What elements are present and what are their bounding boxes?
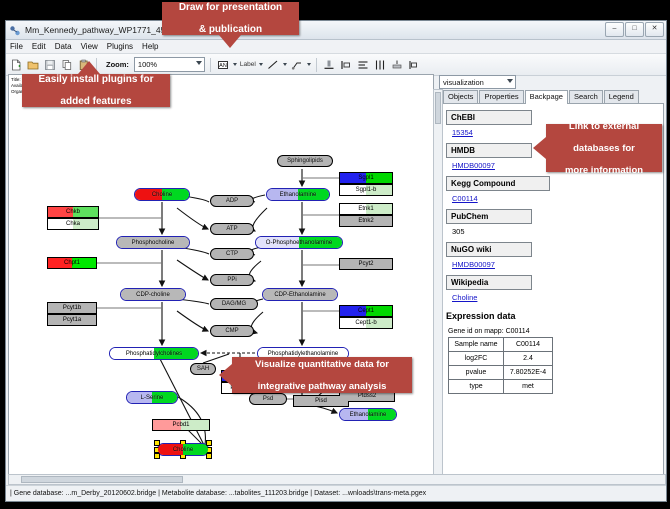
expression-data-title: Expression data	[446, 311, 663, 321]
line-icon[interactable]	[266, 58, 280, 72]
pathway-canvas[interactable]: Title: Availab Organis	[8, 74, 434, 484]
scrollbar-thumb[interactable]	[21, 476, 183, 483]
annotation-visualize-pointer	[219, 364, 232, 386]
metabolite-label: Choline	[173, 447, 193, 453]
window-titlebar: Mm_Kennedy_pathway_WP1771_45176.gpml – □…	[6, 21, 666, 40]
gene-label: Pcyt1b	[63, 305, 81, 311]
scrollbar-thumb[interactable]	[435, 92, 441, 124]
close-button[interactable]: ✕	[645, 22, 664, 37]
zoom-value: 100%	[138, 60, 157, 69]
cofactor-node[interactable]: ADP	[210, 195, 254, 207]
annotation-visualize: Visualize quantitative data for integrat…	[232, 357, 412, 393]
cofactor-node[interactable]: CTP	[210, 248, 254, 260]
annotation-draw-line1: Draw for presentation	[173, 2, 288, 13]
metabolite-label: CDP-choline	[136, 292, 170, 298]
chevron-down-icon	[507, 79, 513, 83]
gene-node[interactable]: Chpt1	[47, 257, 97, 269]
metabolite-label: Ethanolamine	[350, 412, 387, 418]
annotation-plugins-line1: Easily install plugins for	[32, 74, 159, 85]
db-header-pubchem: PubChem	[446, 209, 532, 224]
gene-label: Chkb	[66, 209, 80, 215]
tab-legend[interactable]: Legend	[604, 90, 639, 103]
chevron-down-icon[interactable]	[283, 63, 287, 66]
annotation-visualize-line1: Visualize quantitative data for	[249, 359, 395, 370]
open-folder-icon[interactable]	[26, 58, 40, 72]
annotation-links-line1: Link to external	[559, 121, 649, 132]
db-header-nugo: NuGO wiki	[446, 242, 532, 257]
cofactor-node[interactable]: PPi	[210, 274, 254, 286]
chevron-down-icon[interactable]	[259, 63, 263, 66]
canvas-horizontal-scrollbar[interactable]	[8, 474, 666, 485]
visualization-value: visualization	[443, 78, 484, 87]
cofactor-node[interactable]: CMP	[210, 325, 254, 337]
zoom-select[interactable]: 100%	[134, 57, 205, 72]
align-bottom-icon[interactable]	[322, 58, 336, 72]
menu-edit[interactable]: Edit	[32, 42, 46, 51]
metabolite-node[interactable]: Choline	[157, 443, 209, 456]
metabolite-node[interactable]: O-Phosphoethanolamine	[255, 236, 343, 249]
gene-node[interactable]: Pcyt2	[339, 258, 393, 270]
save-icon[interactable]	[43, 58, 57, 72]
gene-label: Pcbd1	[172, 422, 189, 428]
gene-label: Etnk1	[358, 206, 373, 212]
menubar: File Edit Data View Plugins Help	[6, 40, 666, 54]
gene-label: Ptdss2	[358, 393, 376, 399]
gene-node[interactable]: Chka	[47, 218, 99, 230]
gene-node[interactable]: Cept1-b	[339, 317, 393, 329]
annotation-draw: Draw for presentation & publication	[162, 2, 299, 35]
expr-key-log2fc: log2FC	[449, 352, 504, 366]
metabolite-label: CDP-Ethanolamine	[274, 292, 325, 298]
metabolite-label: Choline	[152, 192, 172, 198]
annotation-links-line3: more information	[559, 165, 649, 176]
metabolite-label: Phosphocholine	[132, 240, 175, 246]
metabolite-label: L-Serine	[141, 395, 164, 401]
tab-objects[interactable]: Objects	[443, 90, 478, 103]
interaction-icon[interactable]	[290, 58, 304, 72]
visualization-select[interactable]: visualization	[439, 75, 516, 89]
gene-label: Etnk2	[358, 218, 373, 224]
gene-label: Pcyt1a	[63, 317, 81, 323]
chevron-down-icon[interactable]	[233, 63, 237, 66]
menu-help[interactable]: Help	[142, 42, 158, 51]
db-link-kegg[interactable]: C00114	[452, 194, 663, 203]
stack-icon[interactable]	[390, 58, 404, 72]
common-width-icon[interactable]	[407, 58, 421, 72]
table-row: Sample name C00114	[449, 338, 553, 352]
label-dropdown-label: Label	[240, 61, 256, 68]
db-link-wikipedia[interactable]: Choline	[452, 293, 663, 302]
db-link-nugo[interactable]: HMDB00097	[452, 260, 663, 269]
cofactor-node[interactable]: ATP	[210, 223, 254, 235]
annotation-links: Link to external databases for more info…	[546, 124, 662, 172]
datanode-icon[interactable]: AN	[216, 58, 230, 72]
gene-label: Pisd	[315, 398, 327, 404]
chevron-down-icon[interactable]	[307, 63, 311, 66]
cofactor-node[interactable]: Psd	[249, 393, 287, 405]
menu-file[interactable]: File	[10, 42, 23, 51]
screenshot-root: Mm_Kennedy_pathway_WP1771_45176.gpml – □…	[0, 0, 670, 509]
window-controls[interactable]: – □ ✕	[605, 22, 664, 37]
expr-key-sample-name: Sample name	[449, 338, 504, 352]
annotation-plugins-line2: added features	[32, 96, 159, 107]
metabolite-node[interactable]: CDP-Ethanolamine	[262, 288, 338, 301]
gene-node[interactable]: Sgpl1	[339, 172, 393, 184]
gene-node[interactable]: Chkb	[47, 206, 99, 218]
cofactor-node[interactable]: DAG/MG	[210, 298, 258, 310]
copy-icon[interactable]	[60, 58, 74, 72]
menu-data[interactable]: Data	[55, 42, 72, 51]
db-value-pubchem: 305	[452, 227, 663, 236]
expr-val-type: met	[504, 380, 553, 394]
align-left-icon[interactable]	[339, 58, 353, 72]
zoom-label: Zoom:	[106, 60, 129, 69]
toolbar-separator	[316, 58, 317, 72]
expr-val-pvalue: 7.80252E-4	[504, 366, 553, 380]
gene-id-label: Gene id on mapp: C00114	[448, 328, 663, 335]
annotation-plugins: Easily install plugins for added feature…	[22, 74, 170, 107]
sidepane-tabs: Objects Properties Backpage Search Legen…	[435, 90, 664, 104]
gene-label: Cept1	[358, 308, 374, 314]
gene-label: Sgpl1	[358, 175, 373, 181]
gene-node[interactable]: Sgpl1-b	[339, 184, 393, 196]
metabolite-label: Phosphatidylethanolamine	[268, 351, 338, 357]
metabolite-node[interactable]: Phosphocholine	[116, 236, 190, 249]
tab-backpage[interactable]: Backpage	[525, 90, 568, 104]
statusbar-text: | Gene database: ...m_Derby_20120602.bri…	[10, 490, 426, 497]
metabolite-node[interactable]: Phosphatidylcholines	[109, 347, 199, 360]
metabolite-label: O-Phosphoethanolamine	[266, 240, 332, 246]
menu-plugins[interactable]: Plugins	[107, 42, 133, 51]
svg-text:AN: AN	[219, 63, 227, 69]
db-header-wikipedia: Wikipedia	[446, 275, 532, 290]
visualization-bar: visualization	[435, 74, 664, 90]
pathvisio-icon	[9, 24, 21, 36]
metabolite-node[interactable]: L-Serine	[126, 391, 178, 404]
gene-label: Pcyt2	[358, 261, 373, 267]
expr-key-type: type	[449, 380, 504, 394]
metabolite-node[interactable]: Ethanolamine	[339, 408, 397, 421]
canvas-vertical-scrollbar[interactable]	[433, 89, 443, 475]
annotation-visualize-line2: integrative pathway analysis	[249, 381, 395, 392]
distribute-horizontal-icon[interactable]	[373, 58, 387, 72]
db-header-kegg: Kegg Compound	[446, 176, 550, 191]
statusbar: | Gene database: ...m_Derby_20120602.bri…	[6, 485, 666, 501]
table-row: type met	[449, 380, 553, 394]
table-row: log2FC 2.4	[449, 352, 553, 366]
metabolite-node[interactable]: Ethanolamine	[266, 188, 330, 201]
gene-node[interactable]: Cept1	[339, 305, 393, 317]
metabolite-label: Ethanolamine	[280, 192, 317, 198]
table-row: pvalue 7.80252E-4	[449, 366, 553, 380]
toolbar-separator	[210, 58, 211, 72]
gene-label: Chpt1	[64, 260, 80, 266]
new-file-icon[interactable]	[9, 58, 23, 72]
gene-node[interactable]: Pcyt1b	[47, 302, 97, 314]
gene-node[interactable]: Etnk1	[339, 203, 393, 215]
expression-table: Sample name C00114 log2FC 2.4 pvalue 7.8…	[448, 337, 553, 394]
gene-node[interactable]: Pcbd1	[152, 419, 210, 431]
gene-label: Sgpl1-b	[356, 187, 377, 193]
distribute-vertical-icon[interactable]	[356, 58, 370, 72]
gene-label: Chka	[66, 221, 80, 227]
db-header-chebi: ChEBI	[446, 110, 532, 125]
expr-key-pvalue: pvalue	[449, 366, 504, 380]
annotation-draw-pointer	[219, 35, 241, 48]
chevron-down-icon	[196, 61, 202, 65]
expr-val-log2fc: 2.4	[504, 352, 553, 366]
cofactor-node[interactable]: Sphingolipids	[277, 155, 333, 167]
db-header-hmdb: HMDB	[446, 143, 532, 158]
gene-node[interactable]: Etnk2	[339, 215, 393, 227]
cofactor-node[interactable]: SAH	[190, 363, 216, 375]
annotation-draw-line2: & publication	[173, 24, 288, 35]
menu-view[interactable]: View	[81, 42, 98, 51]
metabolite-node[interactable]: Choline	[134, 188, 190, 201]
annotation-plugins-pointer	[78, 61, 100, 74]
gene-node[interactable]: Pcyt1a	[47, 314, 97, 326]
metabolite-label: Phosphatidylcholines	[126, 351, 182, 357]
gene-label: Cept1-b	[355, 320, 376, 326]
tab-search[interactable]: Search	[569, 90, 603, 103]
minimize-button[interactable]: –	[605, 22, 624, 37]
metabolite-node[interactable]: CDP-choline	[120, 288, 186, 301]
maximize-button[interactable]: □	[625, 22, 644, 37]
annotation-links-pointer	[533, 137, 546, 159]
annotation-links-line2: databases for	[559, 143, 649, 154]
tab-properties[interactable]: Properties	[479, 90, 523, 103]
expr-val-sample-name: C00114	[504, 338, 553, 352]
